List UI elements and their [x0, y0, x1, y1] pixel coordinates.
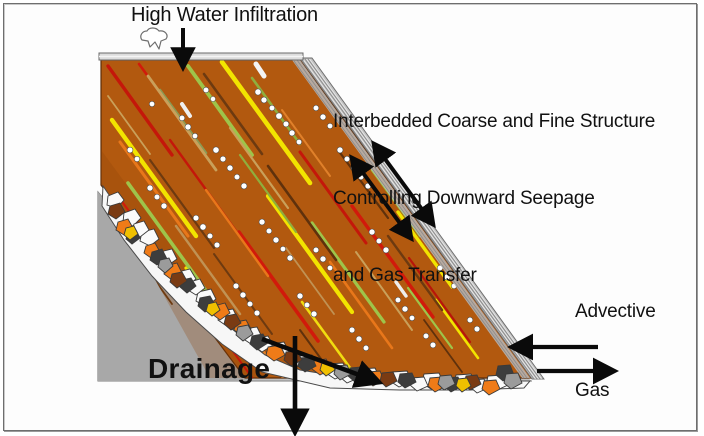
advective-line-2: Gas	[575, 378, 656, 404]
label-advective-gas-transport: Advective Gas Transport in Rubble Zone	[575, 247, 656, 436]
advective-line-1: Advective	[575, 299, 656, 325]
label-drainage: Drainage	[148, 352, 270, 385]
interbedded-line-2: Controlling Downward Seepage	[333, 186, 655, 212]
landfill-cap	[99, 53, 303, 60]
diagram-page: High Water Infiltration Interbedded Coar…	[0, 0, 704, 436]
interbedded-line-1: Interbedded Coarse and Fine Structure	[333, 109, 655, 135]
water-cloud-icon	[141, 28, 167, 49]
label-high-water-infiltration: High Water Infiltration	[131, 4, 318, 28]
